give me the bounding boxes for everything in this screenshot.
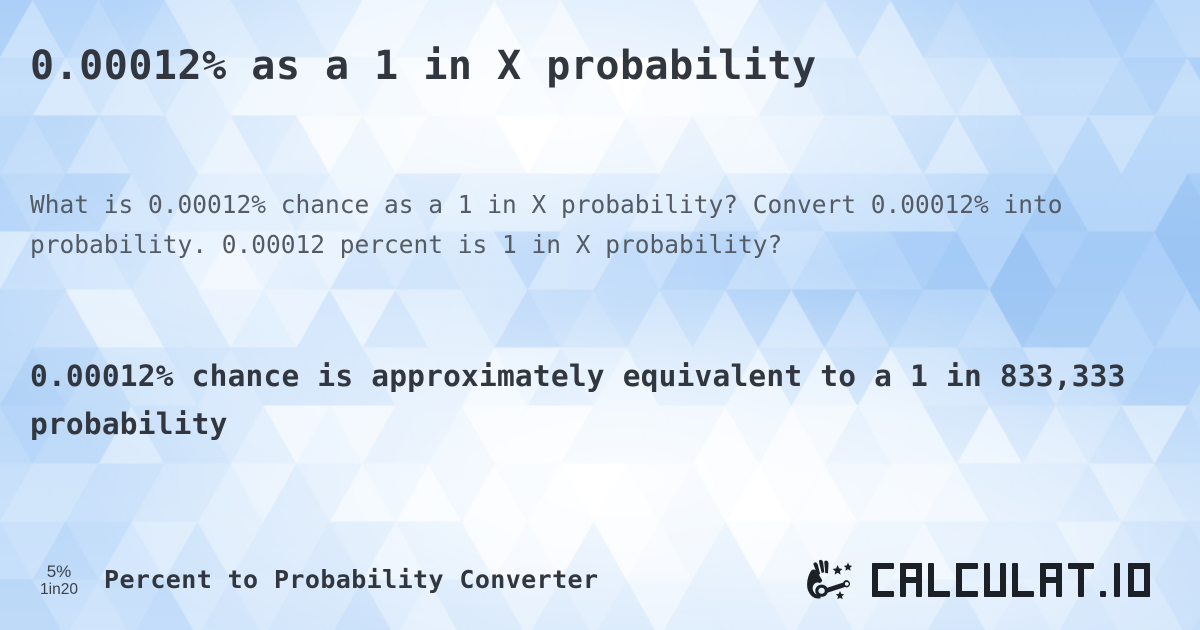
brand-logo[interactable]: CALCULAT.IO bbox=[804, 552, 1170, 608]
answer-statement: 0.00012% chance is approximately equival… bbox=[30, 352, 1170, 448]
brand-wordmark bbox=[870, 557, 1170, 603]
percent-ratio-badge: 5% 1in20 bbox=[30, 562, 88, 598]
badge-ratio-label: 1in20 bbox=[40, 581, 78, 598]
footer-left-group: 5% 1in20 Percent to Probability Converte… bbox=[30, 562, 598, 598]
page-title: 0.00012% as a 1 in X probability bbox=[30, 42, 817, 90]
footer: 5% 1in20 Percent to Probability Converte… bbox=[0, 552, 1200, 608]
page-description: What is 0.00012% chance as a 1 in X prob… bbox=[30, 185, 1120, 264]
hand-holding-magic-wand-icon bbox=[804, 557, 866, 603]
footer-tool-title: Percent to Probability Converter bbox=[104, 565, 598, 594]
badge-percent-label: 5% bbox=[47, 562, 72, 581]
page-container: 0.00012% as a 1 in X probability What is… bbox=[0, 0, 1200, 630]
